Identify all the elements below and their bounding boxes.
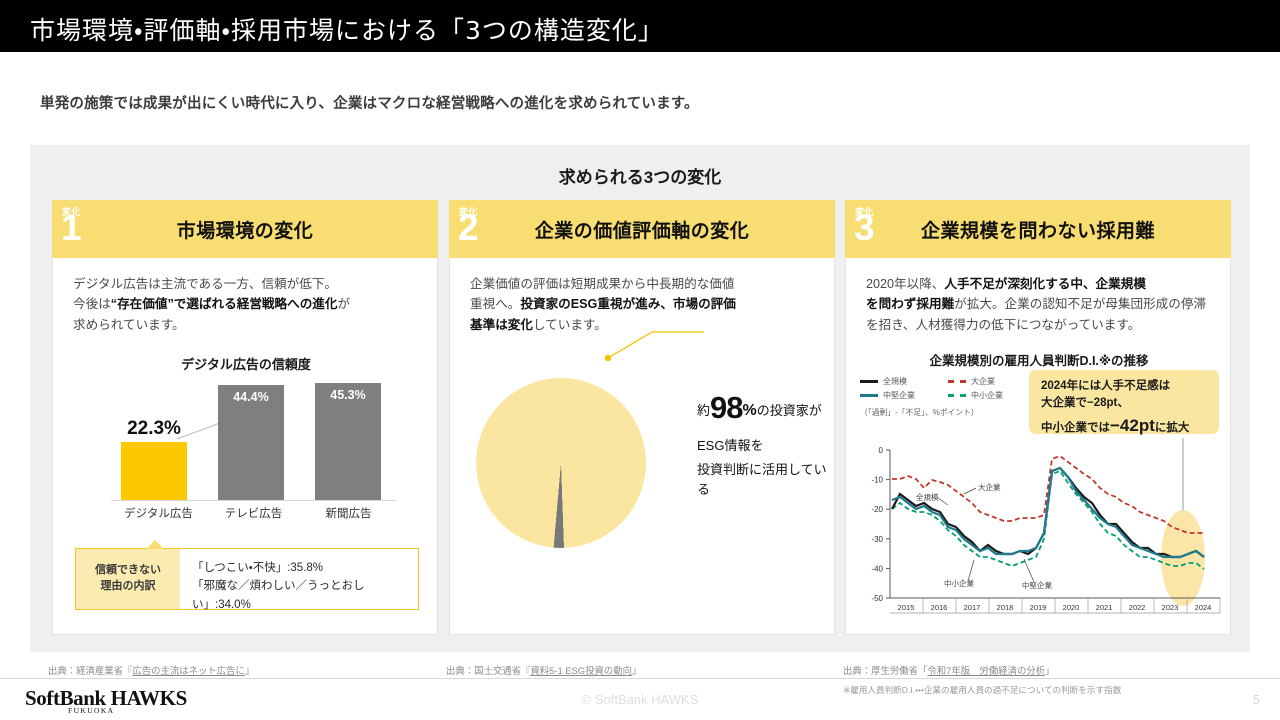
legend-label-small: 中小企業 (971, 390, 1003, 401)
svg-text:-10: -10 (871, 476, 883, 485)
callout-label-line2: 理由の内訳 (101, 579, 156, 595)
bar-label-tv: 44.4% (218, 390, 284, 404)
pie-note-suffix: の投資家が (757, 403, 822, 418)
card-3-desc-bold: 人手不足が深刻化する中、企業規模 (944, 277, 1146, 291)
shortage-line3-value: −42pt (1110, 416, 1155, 435)
legend-item-small: 中小企業 (948, 390, 1036, 401)
pie-note-line3: 投資判断に活用している (697, 460, 837, 500)
svg-text:2020: 2020 (1063, 603, 1080, 612)
legend-item-large: 大企業 (948, 376, 1036, 387)
source-2[interactable]: 出典：国土交通省『資料5-1 ESG投資の動向』 (446, 663, 641, 677)
card-3-body: 2020年以降、人手不足が深刻化する中、企業規模 を問わず採用難が拡大。企業の認… (845, 258, 1231, 635)
svg-text:2015: 2015 (898, 603, 915, 612)
card-1-desc-line1: デジタル広告は主流である一方、信頼が低下。 (73, 277, 337, 291)
line-chart-legend: 全規模 大企業 中堅企業 (860, 376, 1040, 418)
line-chart-title: 企業規模別の雇用人員判断D.I.※の推移 (846, 350, 1232, 369)
callout-label: 信頼できない 理由の内訳 (76, 549, 180, 609)
source-1-link[interactable]: 広告の主流はネット広告に (132, 665, 245, 676)
svg-text:2018: 2018 (997, 603, 1014, 612)
bar-news: 45.3% (315, 383, 381, 500)
source-1-suffix: 』 (245, 665, 254, 676)
source-3-prefix: 出典：厚生労働省「 (843, 665, 927, 676)
source-1-prefix: 出典：経済産業省『 (48, 665, 132, 676)
svg-text:-40: -40 (871, 564, 883, 573)
brand-logo-sub: FUKUOKA (68, 706, 114, 715)
bar-chart-categories: デジタル広告 テレビ広告 新聞広告 (111, 505, 396, 521)
reason-callout: 信頼できない 理由の内訳 「しつこい・不快」:35.8% 「邪魔な／煩わしい／う… (75, 548, 419, 610)
lead-text: 単発の施策では成果が出にくい時代に入り、企業はマクロな経営戦略への進化を求められ… (40, 92, 699, 113)
card-1-desc-line3: 求められています。 (73, 318, 185, 332)
card-3-desc-bold2: を問わず採用難 (866, 297, 954, 311)
inline-label-all: 全規模 (916, 492, 939, 502)
card-2-desc-line1: 企業価値の評価は短期成果から中長期的な価値 (470, 277, 734, 291)
shortage-line3-suffix: に拡大 (1155, 422, 1190, 434)
line-chart-unit-label: （「過剰」-「不足」、%ポイント） (860, 407, 1040, 418)
shortage-line3-prefix: 中小企業では (1041, 422, 1110, 434)
legend-swatch-small-icon (948, 394, 966, 397)
source-3-link[interactable]: 令和7年版 労働経済の分析 (927, 665, 1045, 676)
card-2-body: 企業価値の評価は短期成果から中長期的な価値 重視へ。投資家のESG重視が進み、市… (449, 258, 835, 635)
card-2-title: 企業の価値評価軸の変化 (449, 200, 835, 258)
bar-group-digital: 22.3% (121, 442, 187, 500)
change-card-3: 変化 3 企業規模を問わない採用難 2020年以降、人手不足が深刻化する中、企業… (845, 200, 1231, 635)
svg-text:2019: 2019 (1030, 603, 1047, 612)
change-card-1: 変化 1 市場環境の変化 デジタル広告は主流である一方、信頼が低下。 今後は“存… (52, 200, 438, 635)
page-number: 5 (1253, 692, 1260, 707)
svg-text:2021: 2021 (1096, 603, 1113, 612)
card-3-description: 2020年以降、人手不足が深刻化する中、企業規模 を問わず採用難が拡大。企業の認… (866, 274, 1218, 335)
card-2-desc-line2-suffix: しています。 (533, 318, 607, 332)
card-2-desc-bold2: 基準は変化 (470, 318, 533, 332)
pie-chart-circle (476, 378, 646, 548)
legend-row-2: 中堅企業 中小企業 (860, 390, 1040, 401)
change-card-2: 変化 2 企業の価値評価軸の変化 企業価値の評価は短期成果から中長期的な価値 重… (449, 200, 835, 635)
footer-divider (0, 678, 1280, 679)
shortage-line2-value: −28pt (1087, 397, 1117, 409)
callout-body: 「しつこい・不快」:35.8% 「邪魔な／煩わしい／うっとおしい」:34.0% (180, 549, 418, 609)
source-2-link[interactable]: 資料5-1 ESG投資の動向 (530, 665, 632, 676)
svg-text:-20: -20 (871, 505, 883, 514)
pie-annotation: 約98%の投資家が ESG情報を 投資判断に活用している (697, 384, 837, 500)
panel-title: 求められる3つの変化 (30, 163, 1250, 188)
bar-chart-baseline (111, 500, 396, 501)
legend-swatch-mid-icon (860, 394, 878, 397)
source-3-suffix: 」 (1045, 665, 1054, 676)
bar-label-digital: 22.3% (107, 418, 201, 440)
bar-digital (121, 442, 187, 500)
inline-label-large: 大企業 (978, 482, 1001, 492)
pie-note-prefix: 約 (697, 403, 710, 418)
card-1-desc-bold: “存在価値”で選ばれる経営戦略への進化 (111, 297, 338, 311)
card-2-desc-line2-prefix: 重視へ。 (470, 297, 520, 311)
pie-note-pct: % (743, 402, 757, 419)
legend-label-large: 大企業 (971, 376, 995, 387)
pie-leader-line (600, 318, 710, 378)
shortage-callout: 2024年には人手不足感は 大企業で−28pt、 中小企業では−42ptに拡大 (1029, 370, 1219, 434)
bar-group-tv: 44.4% (218, 385, 284, 500)
slide: 市場環境・評価軸・採用市場における「3つの構造変化」 単発の施策では成果が出にく… (0, 0, 1280, 720)
legend-swatch-large-icon (948, 380, 966, 383)
inline-label-small: 中小企業 (944, 578, 974, 588)
svg-text:-30: -30 (871, 535, 883, 544)
card-1-desc-line2-suffix: が (337, 297, 350, 311)
card-3-desc-line1: 2020年以降、 (866, 277, 944, 291)
source-3[interactable]: 出典：厚生労働省「令和7年版 労働経済の分析」 (843, 663, 1055, 677)
inline-label-mid: 中堅企業 (1022, 580, 1052, 590)
callout-body-line1: 「しつこい・不快」:35.8% (192, 559, 418, 577)
card-2-header: 変化 2 企業の価値評価軸の変化 (449, 200, 835, 258)
bar-chart-bars: 22.3% 44.4% 45.3% (121, 380, 381, 500)
shortage-callout-line3: 中小企業では−42ptに拡大 (1041, 413, 1219, 439)
bar-label-news: 45.3% (315, 388, 381, 402)
shortage-callout-line2: 大企業で−28pt、 (1041, 395, 1219, 412)
shortage-line2-prefix: 大企業で (1041, 397, 1087, 409)
source-2-suffix: 』 (632, 665, 641, 676)
legend-item-mid: 中堅企業 (860, 390, 948, 401)
line-chart: 0 -10 -20 -30 -40 -50 (856, 438, 1228, 628)
content-panel: 求められる3つの変化 変化 1 市場環境の変化 デジタル広告は主流である一方、信… (30, 145, 1250, 652)
callout-label-line1: 信頼できない (95, 563, 161, 579)
pie-chart (476, 378, 646, 548)
shortage-line2-suffix: 、 (1117, 397, 1129, 409)
pie-note-line2: ESG情報を (697, 436, 837, 456)
legend-label-mid: 中堅企業 (883, 390, 915, 401)
svg-text:2022: 2022 (1129, 603, 1146, 612)
svg-text:2016: 2016 (931, 603, 948, 612)
source-2-prefix: 出典：国土交通省『 (446, 665, 530, 676)
callout-body-line2: 「邪魔な／煩わしい／うっとおしい」:34.0% (192, 577, 418, 614)
bar-category-digital: デジタル広告 (111, 505, 206, 521)
page-title: 市場環境・評価軸・採用市場における「3つの構造変化」 (30, 11, 664, 47)
legend-label-all: 全規模 (883, 376, 907, 387)
card-1-title: 市場環境の変化 (52, 200, 438, 258)
callout-arrow (146, 540, 164, 549)
legend-row-1: 全規模 大企業 (860, 376, 1040, 387)
copyright-text: © SoftBank HAWKS (0, 692, 1280, 707)
svg-text:2023: 2023 (1162, 603, 1179, 612)
card-1-header: 変化 1 市場環境の変化 (52, 200, 438, 258)
source-1[interactable]: 出典：経済産業省『広告の主流はネット広告に』 (48, 663, 254, 677)
card-3-header: 変化 3 企業規模を問わない採用難 (845, 200, 1231, 258)
svg-text:2017: 2017 (964, 603, 981, 612)
svg-text:0: 0 (879, 446, 884, 455)
card-3-title: 企業規模を問わない採用難 (845, 200, 1231, 258)
bar-group-news: 45.3% (315, 383, 381, 500)
shortage-callout-line1: 2024年には人手不足感は (1041, 378, 1219, 395)
svg-text:-50: -50 (871, 594, 883, 603)
card-1-desc-line2-prefix: 今後は (73, 297, 111, 311)
bar-category-news: 新聞広告 (301, 505, 396, 521)
bar-category-tv: テレビ広告 (206, 505, 301, 521)
legend-swatch-all-icon (860, 380, 878, 383)
card-3-desc-line2: が拡大。企業の認知不足が母集団 (954, 297, 1143, 311)
bar-chart-title: デジタル広告の信頼度 (53, 354, 439, 373)
legend-item-all: 全規模 (860, 376, 948, 387)
card-1-body: デジタル広告は主流である一方、信頼が低下。 今後は“存在価値”で選ばれる経営戦略… (52, 258, 438, 635)
svg-text:2024: 2024 (1195, 603, 1212, 612)
bar-tv: 44.4% (218, 385, 284, 500)
card-1-description: デジタル広告は主流である一方、信頼が低下。 今後は“存在価値”で選ばれる経営戦略… (73, 274, 425, 335)
pie-note-value: 98 (710, 390, 742, 425)
card-2-desc-bold: 投資家のESG重視が進み、市場の評価 (520, 297, 736, 311)
